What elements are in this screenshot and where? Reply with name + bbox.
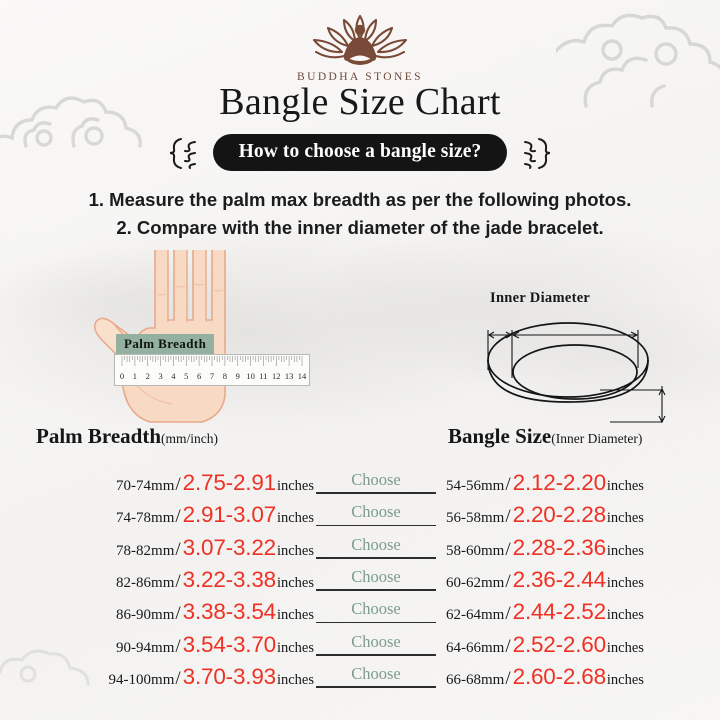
choose-connector[interactable]: Choose — [316, 632, 436, 664]
connector-line — [316, 589, 436, 591]
bangle-size-column-header: Bangle Size(Inner Diameter) — [448, 424, 642, 449]
choose-label: Choose — [316, 535, 436, 555]
row-unit: inches — [277, 543, 314, 560]
lotus-meditation-icon — [300, 8, 420, 70]
connector-line — [316, 686, 436, 688]
row-mm-range: 94-100mm — [109, 672, 175, 689]
row-inch-range: 2.75-2.91 — [182, 470, 277, 496]
svg-text:9: 9 — [236, 371, 240, 381]
row-mm-range: 62-64mm — [446, 607, 504, 624]
choose-label: Choose — [316, 632, 436, 652]
choose-connector[interactable]: Choose — [316, 502, 436, 534]
svg-text:11: 11 — [259, 371, 267, 381]
row-mm-range: 78-82mm — [116, 543, 174, 560]
choose-connector[interactable]: Choose — [316, 567, 436, 599]
row-separator: / — [504, 603, 511, 625]
row-inch-range: 3.54-3.70 — [182, 632, 277, 658]
row-unit: inches — [277, 607, 314, 624]
subtitle-row: How to choose a bangle size? — [0, 134, 720, 171]
choose-connector[interactable]: Choose — [316, 535, 436, 567]
table-row[interactable]: 66-68mm/2.60-2.68inches — [446, 664, 720, 696]
table-row[interactable]: 62-64mm/2.44-2.52inches — [446, 599, 720, 631]
svg-text:2: 2 — [146, 371, 150, 381]
row-mm-range: 54-56mm — [446, 478, 504, 495]
bangle-size-header-sub: (Inner Diameter) — [551, 431, 642, 446]
svg-text:3: 3 — [158, 371, 162, 381]
choose-connector[interactable]: Choose — [316, 470, 436, 502]
connector-line — [316, 654, 436, 656]
row-mm-range: 70-74mm — [116, 478, 174, 495]
row-inch-range: 2.52-2.60 — [512, 632, 607, 658]
palm-breadth-column-header: Palm Breadth(mm/inch) — [36, 424, 218, 449]
row-separator: / — [504, 636, 511, 658]
svg-text:10: 10 — [246, 371, 255, 381]
table-row[interactable]: 70-74mm/2.75-2.91inches — [24, 470, 314, 502]
row-unit: inches — [607, 575, 644, 592]
row-separator: / — [174, 636, 181, 658]
connector-line — [316, 557, 436, 559]
row-separator: / — [504, 506, 511, 528]
row-separator: / — [504, 668, 511, 690]
row-inch-range: 2.60-2.68 — [512, 664, 607, 690]
row-unit: inches — [607, 478, 644, 495]
row-separator: / — [504, 539, 511, 561]
row-mm-range: 82-86mm — [116, 575, 174, 592]
row-mm-range: 60-62mm — [446, 575, 504, 592]
table-row[interactable]: 74-78mm/2.91-3.07inches — [24, 502, 314, 534]
subtitle-pill: How to choose a bangle size? — [213, 134, 508, 171]
row-inch-range: 3.38-3.54 — [182, 599, 277, 625]
row-mm-range: 74-78mm — [116, 510, 174, 527]
choose-label: Choose — [316, 567, 436, 587]
table-row[interactable]: 86-90mm/3.38-3.54inches — [24, 599, 314, 631]
row-unit: inches — [607, 510, 644, 527]
svg-text:13: 13 — [285, 371, 294, 381]
row-inch-range: 2.44-2.52 — [512, 599, 607, 625]
table-row[interactable]: 82-86mm/3.22-3.38inches — [24, 567, 314, 599]
row-unit: inches — [607, 607, 644, 624]
row-inch-range: 2.36-2.44 — [512, 567, 607, 593]
row-mm-range: 58-60mm — [446, 543, 504, 560]
table-row[interactable]: 90-94mm/3.54-3.70inches — [24, 632, 314, 664]
svg-text:0: 0 — [120, 371, 124, 381]
row-inch-range: 3.07-3.22 — [182, 535, 277, 561]
row-mm-range: 90-94mm — [116, 640, 174, 657]
palm-breadth-header-main: Palm Breadth — [36, 424, 161, 448]
flourish-ornament-left-icon — [165, 135, 199, 171]
bangle-size-chart-page: BUDDHA STONES Bangle Size Chart How to c… — [0, 0, 720, 720]
row-unit: inches — [277, 640, 314, 657]
palm-breadth-label: Palm Breadth — [116, 334, 214, 355]
row-inch-range: 2.28-2.36 — [512, 535, 607, 561]
row-inch-range: 3.22-3.38 — [182, 567, 277, 593]
svg-text:6: 6 — [197, 371, 201, 381]
connector-line — [316, 525, 436, 527]
row-unit: inches — [607, 543, 644, 560]
choose-label: Choose — [316, 599, 436, 619]
row-unit: inches — [607, 640, 644, 657]
choose-label: Choose — [316, 470, 436, 490]
row-separator: / — [174, 668, 181, 690]
table-row[interactable]: 78-82mm/3.07-3.22inches — [24, 535, 314, 567]
svg-text:4: 4 — [171, 371, 176, 381]
flourish-ornament-right-icon — [521, 135, 555, 171]
row-inch-range: 2.12-2.20 — [512, 470, 607, 496]
row-separator: / — [174, 474, 181, 496]
connector-line — [316, 492, 436, 494]
table-row[interactable]: 94-100mm/3.70-3.93inches — [24, 664, 314, 696]
instructions-block: 1. Measure the palm max breadth as per t… — [0, 186, 720, 242]
choose-label: Choose — [316, 502, 436, 522]
row-unit: inches — [277, 510, 314, 527]
svg-text:7: 7 — [210, 371, 214, 381]
brand-logo: BUDDHA STONES — [0, 8, 720, 83]
palm-breadth-header-sub: (mm/inch) — [161, 431, 218, 446]
page-title: Bangle Size Chart — [0, 80, 720, 124]
choose-label: Choose — [316, 664, 436, 684]
row-inch-range: 2.91-3.07 — [182, 502, 277, 528]
table-row[interactable]: 60-62mm/2.36-2.44inches — [446, 567, 720, 599]
row-unit: inches — [277, 478, 314, 495]
row-unit: inches — [607, 672, 644, 689]
table-row[interactable]: 64-66mm/2.52-2.60inches — [446, 632, 720, 664]
row-mm-range: 64-66mm — [446, 640, 504, 657]
connector-line — [316, 622, 436, 624]
row-mm-range: 66-68mm — [446, 672, 504, 689]
svg-text:12: 12 — [272, 371, 281, 381]
row-inch-range: 3.70-3.93 — [182, 664, 277, 690]
table-row[interactable]: 54-56mm/2.12-2.20inches — [446, 470, 720, 502]
bangle-illustration: Inner Diameter — [450, 290, 670, 425]
row-separator: / — [504, 571, 511, 593]
choose-connector[interactable]: Choose — [316, 599, 436, 631]
svg-text:8: 8 — [223, 371, 227, 381]
row-separator: / — [174, 603, 181, 625]
row-separator: / — [174, 539, 181, 561]
row-separator: / — [174, 506, 181, 528]
row-separator: / — [174, 571, 181, 593]
ruler-icon: 01234567891011121314 — [114, 354, 310, 386]
row-inch-range: 2.20-2.28 — [512, 502, 607, 528]
row-separator: / — [504, 474, 511, 496]
bangle-ring-icon — [450, 290, 670, 425]
choose-connector[interactable]: Choose — [316, 664, 436, 696]
row-unit: inches — [277, 575, 314, 592]
row-mm-range: 86-90mm — [116, 607, 174, 624]
bangle-size-header-main: Bangle Size — [448, 424, 551, 448]
instruction-line-2: 2. Compare with the inner diameter of th… — [0, 214, 720, 242]
instruction-line-1: 1. Measure the palm max breadth as per t… — [0, 186, 720, 214]
svg-text:1: 1 — [133, 371, 137, 381]
hand-illustration: Palm Breadth 01234567891011121314 — [62, 250, 312, 425]
row-unit: inches — [277, 672, 314, 689]
size-table: Palm Breadth(mm/inch) Bangle Size(Inner … — [0, 424, 720, 720]
svg-text:14: 14 — [298, 371, 307, 381]
svg-text:5: 5 — [184, 371, 188, 381]
table-row[interactable]: 56-58mm/2.20-2.28inches — [446, 502, 720, 534]
table-row[interactable]: 58-60mm/2.28-2.36inches — [446, 535, 720, 567]
row-mm-range: 56-58mm — [446, 510, 504, 527]
